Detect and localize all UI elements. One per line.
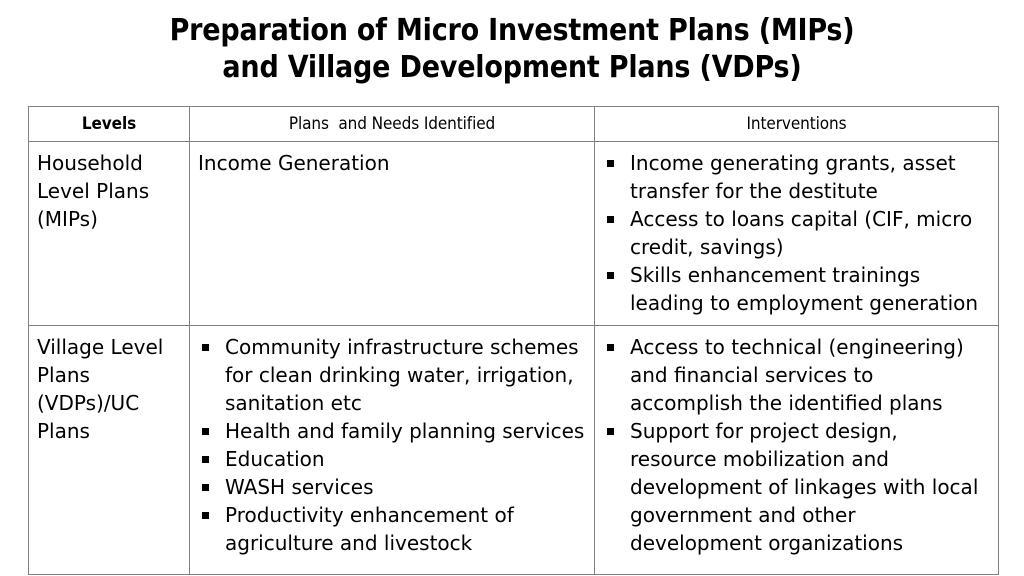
list-item: Health and family planning services: [198, 417, 586, 445]
square-bullet-icon: [202, 428, 209, 435]
level-label: Village Level Plans (VDPs)/UC Plans: [37, 333, 181, 445]
list-item-text: Access to technical (engineering) and fi…: [630, 335, 964, 415]
square-bullet-icon: [607, 216, 614, 223]
cell-plans-village: Community infrastructure schemes for cle…: [190, 326, 595, 575]
square-bullet-icon: [607, 428, 614, 435]
square-bullet-icon: [202, 456, 209, 463]
square-bullet-icon: [202, 512, 209, 519]
cell-level-village: Village Level Plans (VDPs)/UC Plans: [29, 326, 190, 575]
list-item: Access to loans capital (CIF, micro cred…: [603, 205, 990, 261]
cell-interventions-household: Income generating grants, asset transfer…: [595, 142, 999, 326]
page-title: Preparation of Micro Investment Plans (M…: [0, 12, 1024, 86]
list-item-text: Access to loans capital (CIF, micro cred…: [630, 207, 972, 259]
plans-and-interventions-table: Levels Plans and Needs Identified Interv…: [28, 106, 999, 575]
interventions-list: Access to technical (engineering) and fi…: [603, 333, 990, 557]
list-item: Access to technical (engineering) and fi…: [603, 333, 990, 417]
plans-table-container: Levels Plans and Needs Identified Interv…: [28, 106, 998, 575]
list-item-text: Support for project design, resource mob…: [630, 419, 978, 555]
list-item: Productivity enhancement of agriculture …: [198, 501, 586, 557]
column-header-levels: Levels: [29, 107, 190, 142]
cell-interventions-village: Access to technical (engineering) and fi…: [595, 326, 999, 575]
list-item: Skills enhancement trainings leading to …: [603, 261, 990, 317]
square-bullet-icon: [607, 344, 614, 351]
table-row: Village Level Plans (VDPs)/UC Plans Comm…: [29, 326, 999, 575]
table-header-row: Levels Plans and Needs Identified Interv…: [29, 107, 999, 142]
list-item-text: Skills enhancement trainings leading to …: [630, 263, 978, 315]
plans-list: Community infrastructure schemes for cle…: [198, 333, 586, 557]
interventions-list: Income generating grants, asset transfer…: [603, 149, 990, 317]
list-item-text: Productivity enhancement of agriculture …: [225, 503, 514, 555]
list-item-text: WASH services: [225, 475, 374, 499]
cell-plans-household: Income Generation: [190, 142, 595, 326]
list-item: Income generating grants, asset transfer…: [603, 149, 990, 205]
list-item-text: Education: [225, 447, 325, 471]
cell-level-household: Household Level Plans (MIPs): [29, 142, 190, 326]
list-item: Education: [198, 445, 586, 473]
plans-text: Income Generation: [198, 149, 586, 177]
list-item: WASH services: [198, 473, 586, 501]
list-item: Support for project design, resource mob…: [603, 417, 990, 557]
level-label: Household Level Plans (MIPs): [37, 149, 181, 233]
table-body: Household Level Plans (MIPs) Income Gene…: [29, 142, 999, 575]
list-item-text: Community infrastructure schemes for cle…: [225, 335, 579, 415]
square-bullet-icon: [202, 484, 209, 491]
column-header-plans: Plans and Needs Identified: [190, 107, 595, 142]
list-item: Community infrastructure schemes for cle…: [198, 333, 586, 417]
column-header-interventions: Interventions: [595, 107, 999, 142]
square-bullet-icon: [607, 160, 614, 167]
list-item-text: Health and family planning services: [225, 419, 584, 443]
square-bullet-icon: [607, 272, 614, 279]
table-header: Levels Plans and Needs Identified Interv…: [29, 107, 999, 142]
list-item-text: Income generating grants, asset transfer…: [630, 151, 956, 203]
square-bullet-icon: [202, 344, 209, 351]
table-row: Household Level Plans (MIPs) Income Gene…: [29, 142, 999, 326]
